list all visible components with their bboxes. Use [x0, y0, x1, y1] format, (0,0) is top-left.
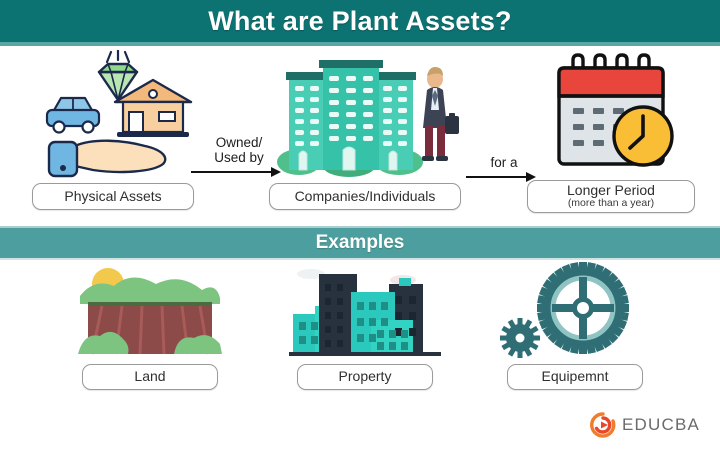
- example-label: Property: [339, 369, 392, 384]
- page-title: What are Plant Assets?: [208, 6, 511, 37]
- page-header: What are Plant Assets?: [0, 0, 720, 46]
- example-label-box: Equipemnt: [507, 364, 643, 390]
- example-item-land: Land: [60, 262, 240, 402]
- flow-step-sublabel: (more than a year): [568, 198, 654, 210]
- example-item-property: Property: [275, 262, 455, 402]
- flow-step-label-box: Physical Assets: [32, 183, 194, 210]
- flow-step-label-box: Companies/Individuals: [269, 183, 461, 210]
- example-label: Equipemnt: [542, 369, 609, 384]
- hand-holding-assets-icon: [18, 50, 208, 178]
- example-item-equipment: Equipemnt: [485, 262, 665, 402]
- flow-step-label: Physical Assets: [64, 189, 161, 204]
- flow-step-label: Companies/Individuals: [295, 189, 436, 204]
- example-label: Land: [134, 369, 165, 384]
- flow-diagram-row: Physical Assets Owned/ Used by: [0, 50, 720, 224]
- flow-step-companies-individuals: Companies/Individuals: [265, 50, 465, 224]
- educba-swirl-logo-icon: [590, 412, 616, 438]
- examples-row: Land: [0, 262, 720, 402]
- example-label-box: Property: [297, 364, 433, 390]
- city-buildings-icon: [275, 262, 455, 358]
- examples-band: Examples: [0, 226, 720, 260]
- brand-logo: EDUCBA: [590, 412, 700, 438]
- flow-step-label: Longer Period: [567, 183, 655, 198]
- flow-step-longer-period: Longer Period (more than a year): [515, 50, 705, 224]
- example-label-box: Land: [82, 364, 218, 390]
- examples-title: Examples: [316, 232, 405, 254]
- calendar-clock-icon: [515, 50, 705, 178]
- farm-land-icon: [60, 262, 240, 358]
- flow-step-label-box: Longer Period (more than a year): [527, 180, 695, 213]
- gears-icon: [485, 262, 665, 358]
- brand-name: EDUCBA: [622, 415, 700, 435]
- flow-step-physical-assets: Physical Assets: [18, 50, 208, 224]
- office-building-businessman-icon: [265, 50, 465, 178]
